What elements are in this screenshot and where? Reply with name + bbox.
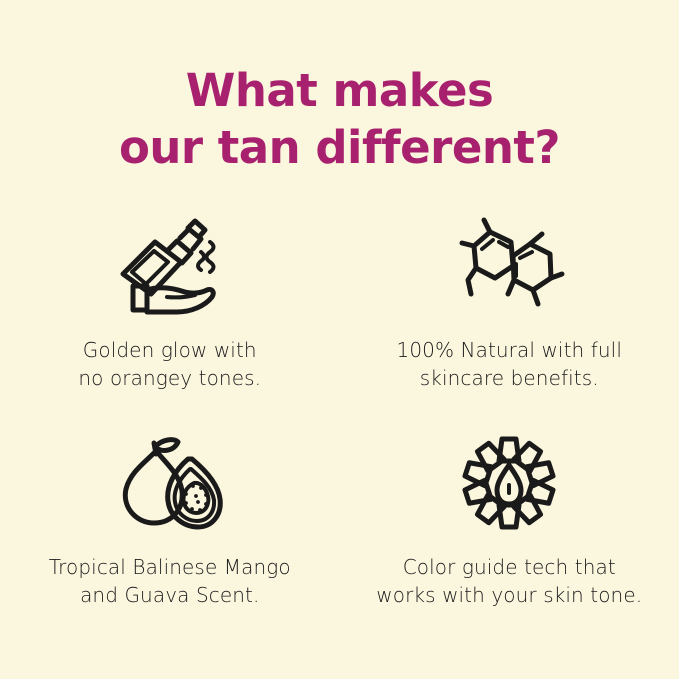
feature-caption-line-1: Color guide tech that bbox=[376, 553, 642, 581]
feature-caption-line-2: and Guava Scent. bbox=[49, 581, 291, 609]
feature-caption: Tropical Balinese Mango and Guava Scent. bbox=[49, 553, 291, 609]
feature-caption: 100% Natural with full skincare benefits… bbox=[397, 336, 622, 392]
feature-caption-line-2: skincare benefits. bbox=[397, 364, 622, 392]
page-title-line-2: our tan different? bbox=[0, 119, 679, 176]
feature-item-natural: 100% Natural with full skincare benefits… bbox=[340, 218, 679, 433]
spray-bottle-hand-icon bbox=[110, 218, 230, 318]
molecule-hexagons-icon bbox=[449, 218, 569, 318]
feature-item-color-guide: Color guide tech that works with your sk… bbox=[340, 433, 679, 648]
feature-caption: Golden glow with no orangey tones. bbox=[78, 336, 261, 392]
feature-item-golden-glow: Golden glow with no orangey tones. bbox=[0, 218, 340, 433]
feature-caption: Color guide tech that works with your sk… bbox=[376, 553, 642, 609]
page-title-line-1: What makes bbox=[0, 62, 679, 119]
page-title: What makes our tan different? bbox=[0, 62, 679, 176]
feature-caption-line-2: works with your skin tone. bbox=[376, 581, 642, 609]
feature-grid: Golden glow with no orangey tones. bbox=[0, 218, 679, 648]
feature-caption-line-2: no orangey tones. bbox=[78, 364, 261, 392]
feature-poster: What makes our tan different? bbox=[0, 0, 679, 679]
mango-guava-fruit-icon bbox=[110, 433, 230, 533]
feature-caption-line-1: Tropical Balinese Mango bbox=[49, 553, 291, 581]
feature-caption-line-1: 100% Natural with full bbox=[397, 336, 622, 364]
feature-item-scent: Tropical Balinese Mango and Guava Scent. bbox=[0, 433, 340, 648]
color-wheel-droplet-icon bbox=[449, 433, 569, 533]
feature-caption-line-1: Golden glow with bbox=[78, 336, 261, 364]
